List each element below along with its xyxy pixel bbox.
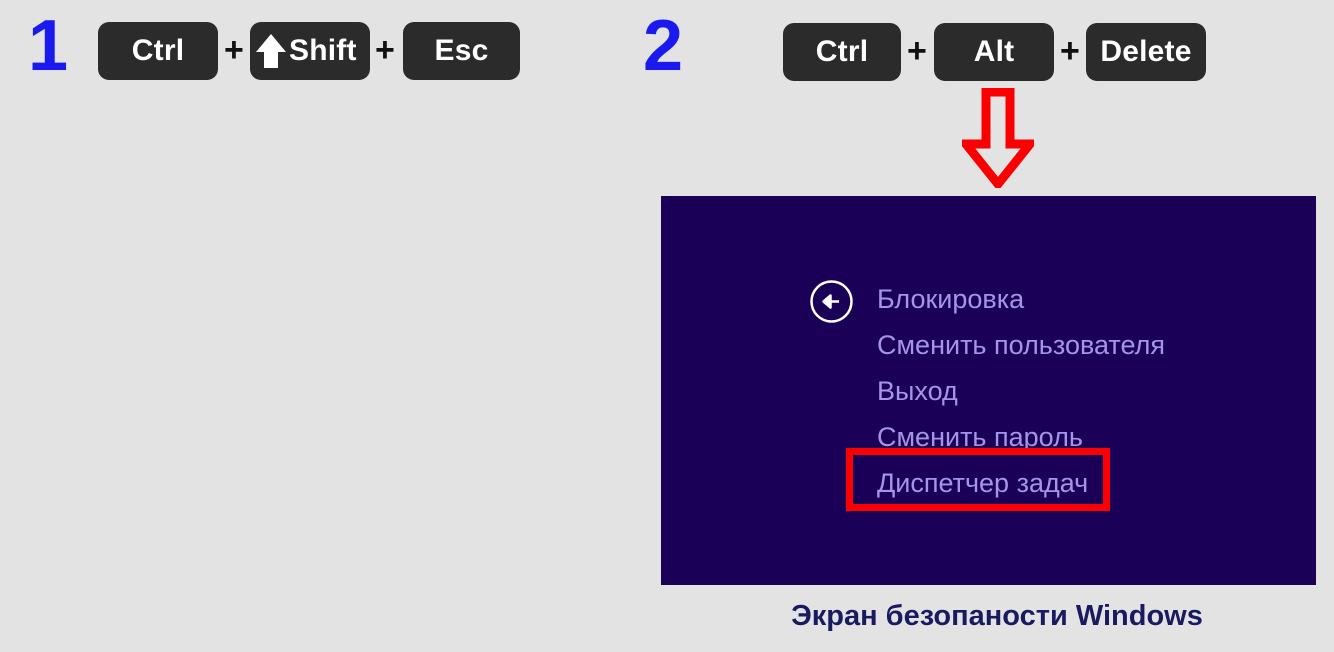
step-number-1: 1 [28,10,68,82]
key-alt-step2[interactable]: Alt [934,23,1054,81]
key-shift-step1[interactable]: Shift [250,22,370,80]
arrow-down-icon [962,88,1034,188]
menu-item-change-password[interactable]: Сменить пароль [877,414,1297,460]
key-shift-label: Shift [289,34,357,68]
arrow-up-icon [254,31,288,71]
key-delete-step2[interactable]: Delete [1086,23,1206,81]
plus-separator: + [375,33,395,67]
illustration-canvas: 1 Ctrl + Shift + Esc 2 Ctrl + Alt + Dele… [0,0,1334,652]
security-menu-list: Блокировка Сменить пользователя Выход См… [877,276,1297,506]
caption-label: Экран безопаности Windows [131,600,1203,632]
plus-separator: + [907,34,927,68]
key-ctrl-step2[interactable]: Ctrl [783,23,901,81]
step-number-2: 2 [643,10,683,82]
menu-item-task-manager[interactable]: Диспетчер задач [877,460,1297,506]
plus-separator: + [1060,34,1080,68]
caption-text: Экран безопаности Windows [0,600,1334,633]
key-ctrl-step1[interactable]: Ctrl [98,22,218,80]
menu-item-lock[interactable]: Блокировка [877,276,1297,322]
menu-item-switch-user[interactable]: Сменить пользователя [877,322,1297,368]
menu-item-sign-out[interactable]: Выход [877,368,1297,414]
arrow-left-circle-icon[interactable] [809,279,854,324]
key-esc-step1[interactable]: Esc [403,22,520,80]
plus-separator: + [224,33,244,67]
